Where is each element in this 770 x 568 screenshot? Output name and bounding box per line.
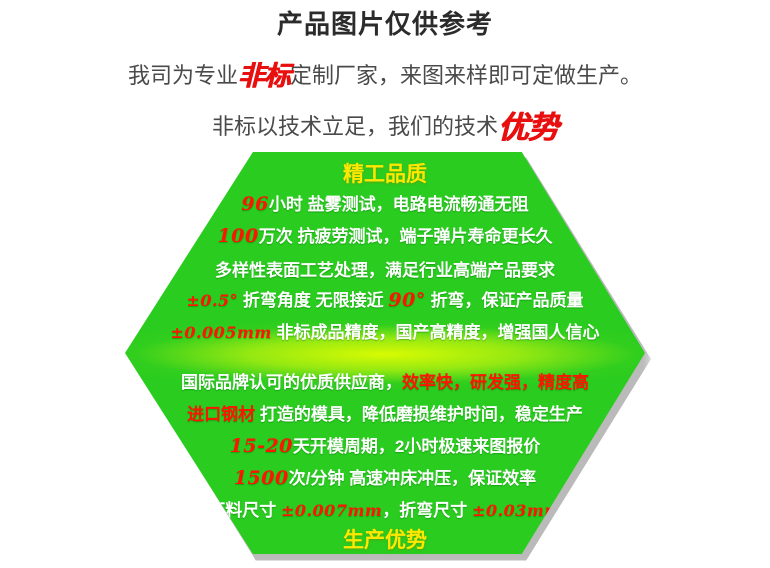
bottom-section-heading: 生产优势 bbox=[125, 524, 645, 554]
top-line-2-text: 万次 抗疲劳测试，端子弹片寿命更长久 bbox=[259, 227, 553, 246]
top-line-3: 多样性表面工艺处理，满足行业高端产品要求 bbox=[125, 256, 645, 281]
page-title: 产品图片仅供参考 bbox=[0, 4, 770, 41]
hexagon-infographic: 精工品质 96小时 盐雾测试，电路电流畅通无阻 100万次 抗疲劳测试，端子弹片… bbox=[0, 138, 770, 567]
top-line-1-text: 小时 盐雾测试，电路电流畅通无阻 bbox=[269, 195, 529, 214]
header-banner: 产品图片仅供参考 我司为专业非标定制厂家，来图来样即可定做生产。 非标以技术立足… bbox=[0, 0, 770, 140]
top-line-3-text: 多样性表面工艺处理，满足行业高端产品要求 bbox=[215, 261, 555, 280]
top-line-1: 96小时 盐雾测试，电路电流畅通无阻 bbox=[125, 190, 645, 215]
bottom-line-5-number: ±0.007mm bbox=[281, 501, 382, 520]
bottom-line-1-white: 国际品牌认可的优质供应商， bbox=[181, 373, 402, 392]
top-section-heading: 精工品质 bbox=[125, 158, 645, 188]
bottom-line-1-sep-1: ， bbox=[453, 373, 470, 392]
bottom-line-2: 进口钢材 打造的模具，降低磨损维护时间，稳定生产 bbox=[125, 400, 645, 425]
tagline-1-pre: 我司为专业 bbox=[128, 63, 238, 88]
bottom-line-1-red-3: 精度高 bbox=[538, 373, 589, 392]
bottom-line-1-red-2: 研发强 bbox=[470, 373, 521, 392]
tagline-2-pre: 非标以技术立足，我们的技术 bbox=[212, 114, 498, 139]
bottom-line-5-white-2: ，折弯尺寸 bbox=[382, 501, 472, 520]
bottom-line-3: 15-20天开模周期，2小时极速来图报价 bbox=[125, 432, 645, 457]
top-line-2: 100万次 抗疲劳测试，端子弹片寿命更长久 bbox=[125, 222, 645, 247]
hexagon-body: 精工品质 96小时 盐雾测试，电路电流畅通无阻 100万次 抗疲劳测试，端子弹片… bbox=[125, 144, 645, 562]
bottom-line-3-text: 天开模周期，2小时极速来图报价 bbox=[293, 437, 540, 456]
top-line-5-number: ±0.005mm bbox=[170, 323, 271, 342]
bottom-line-2-red-lead: 进口钢材 bbox=[187, 405, 255, 424]
top-line-4: ±0.5° 折弯角度 无限接近 90° 折弯，保证产品质量 bbox=[125, 286, 645, 311]
bottom-line-5-white: 下料尺寸 bbox=[208, 501, 281, 520]
header-tagline-1: 我司为专业非标定制厂家，来图来样即可定做生产。 bbox=[0, 52, 770, 91]
top-line-4-text-2: 折弯，保证产品质量 bbox=[431, 291, 584, 310]
bottom-line-5: 下料尺寸 ±0.007mm，折弯尺寸 ±0.03mm bbox=[125, 496, 645, 521]
top-line-5: ±0.005mm 非标成品精度，国产高精度，增强国人信心 bbox=[125, 318, 645, 343]
bottom-line-1-red-1: 效率快 bbox=[402, 373, 453, 392]
top-line-4-text: 折弯角度 无限接近 bbox=[243, 291, 384, 310]
top-line-1-number: 96 bbox=[241, 193, 268, 215]
header-tagline-2: 非标以技术立足，我们的技术优势 bbox=[0, 98, 770, 143]
top-line-2-number: 100 bbox=[218, 225, 259, 247]
top-line-4-number-2: 90° bbox=[388, 289, 425, 311]
bottom-line-1-sep-2: ， bbox=[521, 373, 538, 392]
top-line-4-number: ±0.5° bbox=[186, 291, 238, 310]
bottom-line-4-number: 1500 bbox=[234, 467, 289, 489]
top-line-5-text: 非标成品精度，国产高精度，增强国人信心 bbox=[277, 323, 600, 342]
hexagon-content: 精工品质 96小时 盐雾测试，电路电流畅通无阻 100万次 抗疲劳测试，端子弹片… bbox=[125, 144, 645, 562]
bottom-line-3-number: 15-20 bbox=[230, 435, 293, 457]
bottom-line-2-white: 打造的模具，降低磨损维护时间，稳定生产 bbox=[255, 405, 583, 424]
bottom-line-1: 国际品牌认可的优质供应商，效率快，研发强，精度高 bbox=[125, 368, 645, 393]
tagline-1-highlight: 非标 bbox=[238, 61, 290, 92]
tagline-1-post: 定制厂家，来图来样即可定做生产。 bbox=[290, 63, 642, 88]
bottom-line-4-text: 次/分钟 高速冲床冲压，保证效率 bbox=[289, 469, 536, 488]
